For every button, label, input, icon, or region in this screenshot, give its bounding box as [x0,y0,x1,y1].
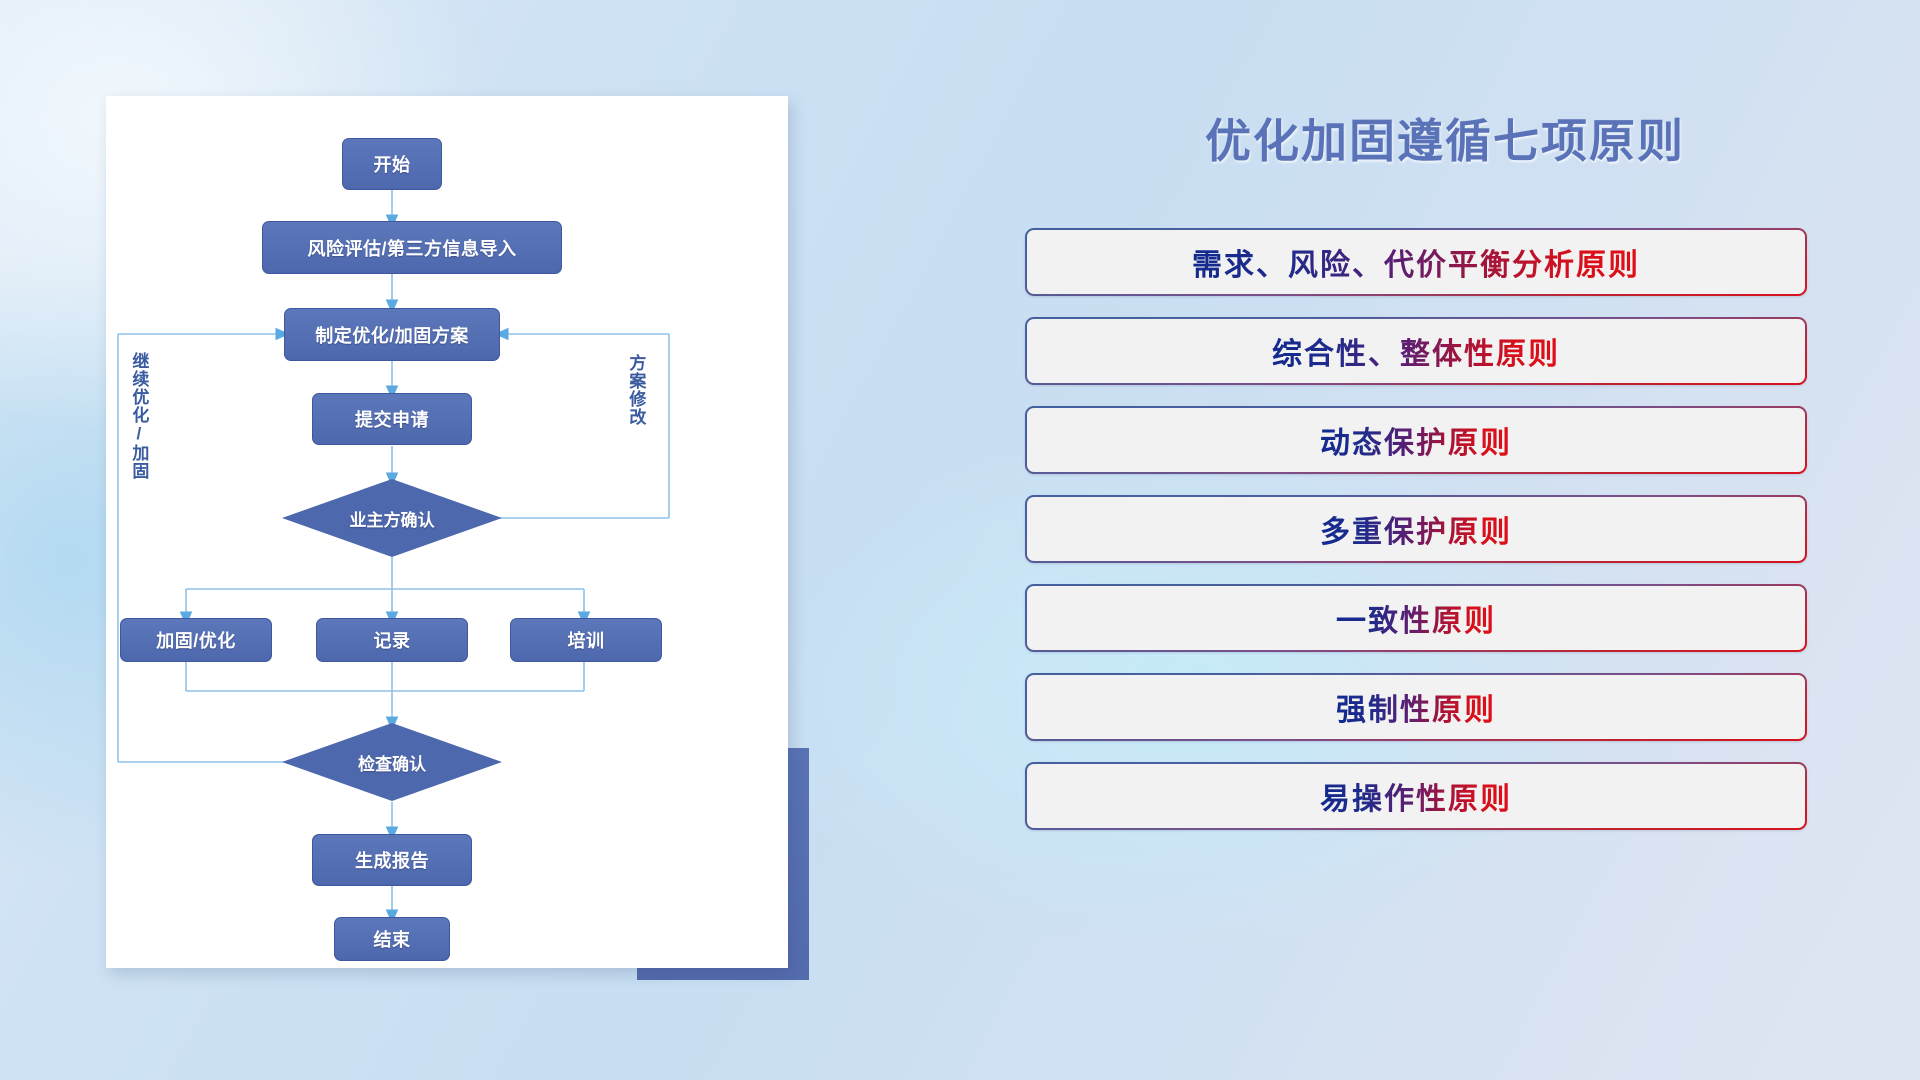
list-item[interactable]: 需求、风险、代价平衡分析原则 [1025,228,1807,296]
principle-label-5: 一致性原则 [1336,596,1496,640]
flow-node-end[interactable]: 结束 [334,917,450,961]
principle-label-3: 动态保护原则 [1320,418,1512,462]
flow-node-make-plan[interactable]: 制定优化/加固方案 [284,308,500,361]
flow-node-generate-report-label: 生成报告 [355,847,429,873]
flow-node-submit-application[interactable]: 提交申请 [312,393,472,445]
principle-label-6: 强制性原则 [1336,685,1496,729]
flow-node-make-plan-label: 制定优化/加固方案 [315,322,469,348]
flow-node-training[interactable]: 培训 [510,618,662,662]
principles-panel: 优化加固遵循七项原则 需求、风险、代价平衡分析原则 综合性、整体性原则 动态保护… [1000,0,1920,1080]
flow-node-record-label: 记录 [374,627,411,653]
slide-root: 开始 风险评估/第三方信息导入 制定优化/加固方案 提交申请 业主方确认 加固/… [0,0,1920,1080]
flow-node-risk-assessment-label: 风险评估/第三方信息导入 [308,235,517,261]
principles-list: 需求、风险、代价平衡分析原则 综合性、整体性原则 动态保护原则 多重保护原则 [1025,228,1807,851]
flow-node-owner-confirm-label: 业主方确认 [350,506,435,531]
principle-box-3[interactable]: 动态保护原则 [1025,406,1807,474]
flow-node-reinforce-optimize-label: 加固/优化 [156,627,236,653]
flow-node-end-label: 结束 [374,926,411,952]
principle-label-1: 需求、风险、代价平衡分析原则 [1192,240,1640,284]
list-item[interactable]: 易操作性原则 [1025,762,1807,830]
principle-label-7: 易操作性原则 [1320,774,1512,818]
flow-node-reinforce-optimize[interactable]: 加固/优化 [120,618,272,662]
flow-node-training-label: 培训 [568,627,605,653]
flow-node-submit-application-label: 提交申请 [355,406,429,432]
flow-node-generate-report[interactable]: 生成报告 [312,834,472,886]
flow-edge-label-continue-optimize: 继续优化/加固 [130,352,147,512]
flow-node-start[interactable]: 开始 [342,138,442,190]
principle-box-1[interactable]: 需求、风险、代价平衡分析原则 [1025,228,1807,296]
list-item[interactable]: 多重保护原则 [1025,495,1807,563]
flow-edge-label-plan-revision: 方案修改 [627,354,644,464]
flow-node-check-confirm-label: 检查确认 [358,750,426,775]
principle-label-2: 综合性、整体性原则 [1272,329,1560,373]
flow-node-start-label: 开始 [374,151,411,177]
flow-node-record[interactable]: 记录 [316,618,468,662]
principle-box-2[interactable]: 综合性、整体性原则 [1025,317,1807,385]
flow-node-risk-assessment[interactable]: 风险评估/第三方信息导入 [262,221,562,274]
flowchart-card: 开始 风险评估/第三方信息导入 制定优化/加固方案 提交申请 业主方确认 加固/… [106,96,788,968]
list-item[interactable]: 强制性原则 [1025,673,1807,741]
principle-box-6[interactable]: 强制性原则 [1025,673,1807,741]
principle-box-7[interactable]: 易操作性原则 [1025,762,1807,830]
page-title: 优化加固遵循七项原则 [1000,105,1890,171]
list-item[interactable]: 综合性、整体性原则 [1025,317,1807,385]
principle-label-4: 多重保护原则 [1320,507,1512,551]
list-item[interactable]: 动态保护原则 [1025,406,1807,474]
list-item[interactable]: 一致性原则 [1025,584,1807,652]
flowchart-panel: 开始 风险评估/第三方信息导入 制定优化/加固方案 提交申请 业主方确认 加固/… [0,0,860,1080]
principle-box-4[interactable]: 多重保护原则 [1025,495,1807,563]
principle-box-5[interactable]: 一致性原则 [1025,584,1807,652]
